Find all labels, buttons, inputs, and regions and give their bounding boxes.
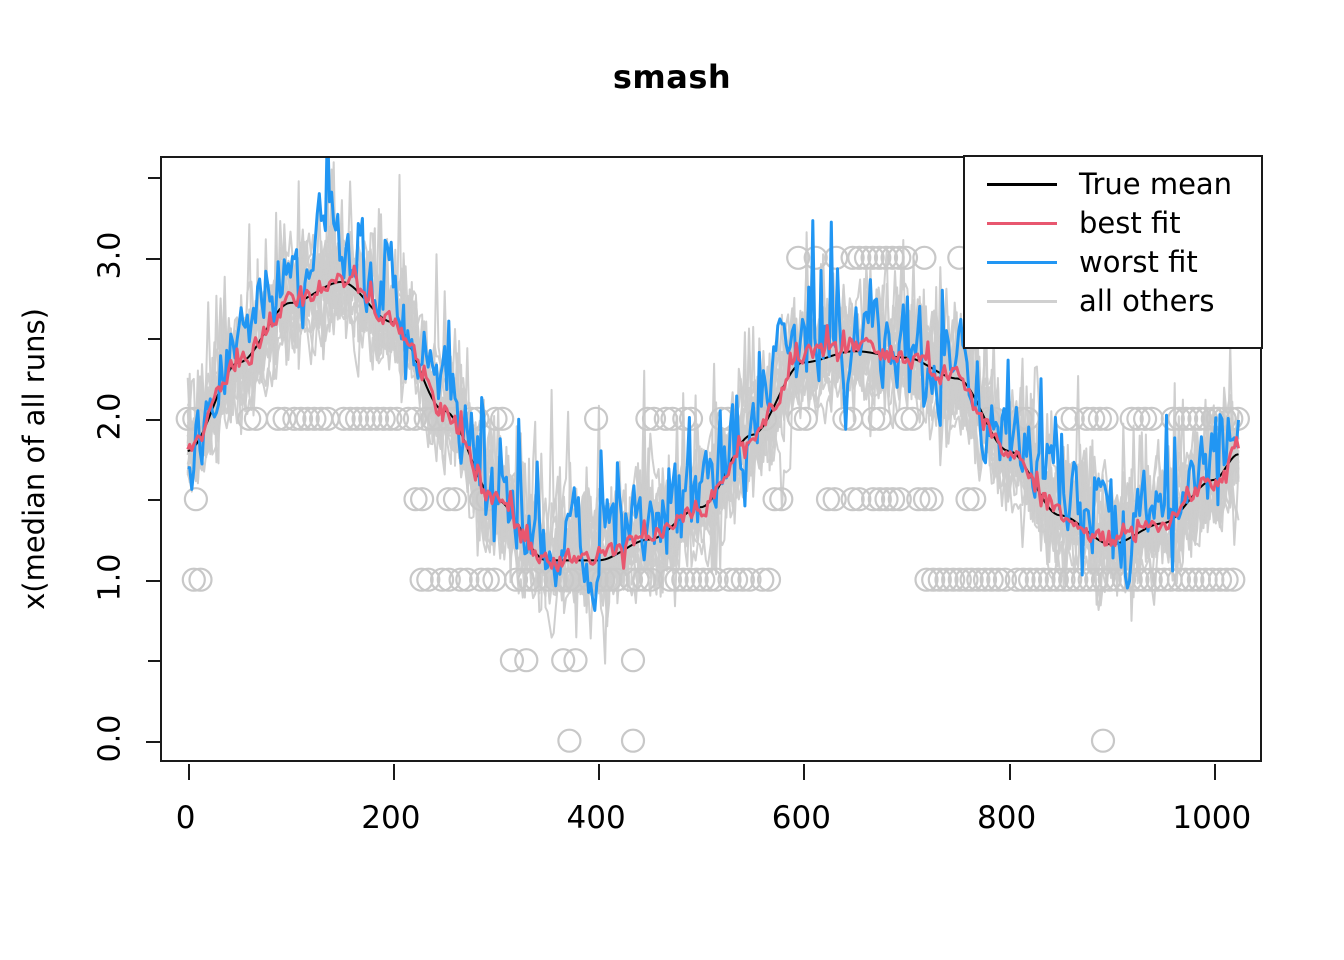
legend-item[interactable]: worst fit	[965, 243, 1261, 282]
y-axis-title: x(median of all runs)	[14, 156, 54, 762]
outlier-marker	[558, 730, 580, 752]
x-tick-label: 400	[567, 800, 626, 836]
outlier-marker	[622, 649, 644, 671]
outlier-marker	[515, 649, 537, 671]
x-tick-label: 1000	[1172, 800, 1251, 836]
y-axis-tick	[148, 338, 162, 340]
legend-swatch-all-others	[987, 300, 1057, 303]
y-axis-tick	[146, 419, 162, 421]
legend-label-all-others: all others	[1079, 287, 1214, 316]
y-tick-label: 2.0	[93, 376, 128, 456]
legend-swatch-true-mean	[987, 183, 1057, 186]
y-axis-tick	[148, 499, 162, 501]
x-axis-tick	[1214, 764, 1216, 780]
legend-item[interactable]: best fit	[965, 204, 1261, 243]
legend-swatch-worst-fit	[987, 261, 1057, 264]
y-axis-tick	[148, 177, 162, 179]
x-axis-tick	[1009, 764, 1011, 780]
legend-item[interactable]: True mean	[965, 165, 1261, 204]
x-axis-tick	[598, 764, 600, 780]
legend-item[interactable]: all others	[965, 282, 1261, 321]
legend-swatch-best-fit	[987, 222, 1057, 225]
x-axis-tick	[803, 764, 805, 780]
legend-box: True mean best fit worst fit all others	[963, 155, 1263, 349]
x-tick-label: 600	[772, 800, 831, 836]
y-axis-tick	[146, 580, 162, 582]
chart-page: smash x(median of all runs) 0.01.02.03.0…	[0, 0, 1344, 960]
x-tick-label: 200	[361, 800, 420, 836]
outlier-marker	[585, 408, 607, 430]
outlier-marker	[565, 649, 587, 671]
legend-label-true-mean: True mean	[1079, 170, 1232, 199]
y-tick-label: 0.0	[93, 698, 128, 778]
outlier-marker	[1092, 730, 1114, 752]
y-axis-title-label: x(median of all runs)	[17, 308, 51, 610]
y-axis-tick	[148, 660, 162, 662]
chart-title: smash	[0, 58, 1344, 96]
legend-label-worst-fit: worst fit	[1079, 248, 1198, 277]
y-axis-tick	[146, 741, 162, 743]
y-tick-label: 1.0	[93, 537, 128, 617]
x-tick-label: 800	[977, 800, 1036, 836]
y-tick-label: 3.0	[93, 215, 128, 295]
legend-label-best-fit: best fit	[1079, 209, 1181, 238]
y-axis-tick	[146, 258, 162, 260]
outlier-marker	[622, 730, 644, 752]
x-axis-tick	[188, 764, 190, 780]
outlier-marker	[185, 488, 207, 510]
x-axis-tick	[393, 764, 395, 780]
outlier-marker	[552, 649, 574, 671]
x-tick-label: 0	[176, 800, 196, 836]
